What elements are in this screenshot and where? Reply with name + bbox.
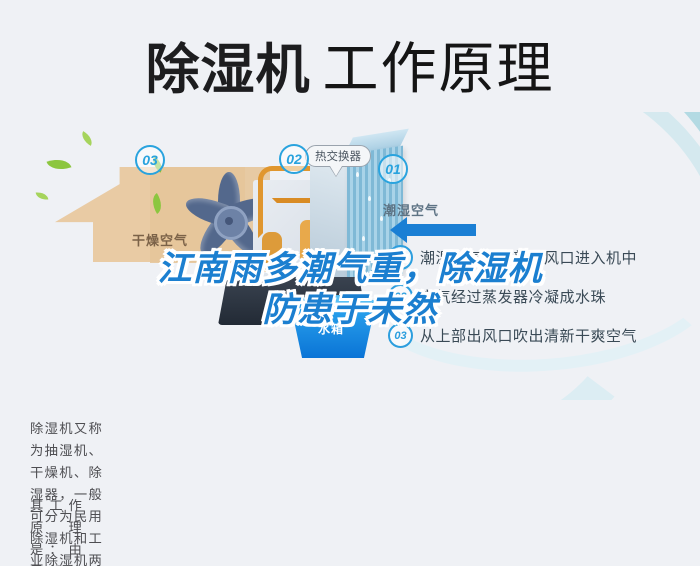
leaf-icon	[36, 191, 49, 200]
step-text: 空气经过蒸发器冷凝成水珠	[420, 286, 606, 307]
compressor-cylinder	[262, 232, 282, 272]
step-number: 01	[388, 245, 413, 270]
step-item: 01 潮湿空气从下部进风口进入机中	[388, 245, 688, 270]
body-copy: 除湿机又称为抽湿机、干燥机、除湿器，一般可分为民用除湿机和工业除湿机两大类，属于…	[30, 418, 678, 539]
step-item: 02 空气经过蒸发器冷凝成水珠	[388, 284, 688, 309]
badge-02: 02	[279, 144, 309, 174]
paragraph-1: 除湿机又称为抽湿机、干燥机、除湿器，一般可分为民用除湿机和工业除湿机两大类，属于…	[30, 418, 102, 480]
step-number: 03	[388, 323, 413, 348]
step-text: 从上部出风口吹出清新干爽空气	[420, 325, 637, 346]
badge-01: 01	[378, 154, 408, 184]
step-text: 潮湿空气从下部进风口进入机中	[420, 247, 637, 268]
page-title: 除湿机工作原理	[0, 24, 700, 105]
step-number: 02	[388, 284, 413, 309]
title-part-b: 工作原理	[323, 37, 555, 100]
water-tank-label: 水箱	[318, 320, 344, 337]
paragraph-2: 其工作原理是：由风机将潮湿空气抽入机内，通过热交换器，此时空气中的水分子冷凝成水…	[30, 495, 82, 539]
water-droplet	[362, 236, 365, 241]
water-droplet	[356, 172, 359, 177]
title-part-a: 除湿机	[146, 38, 311, 101]
heat-exchanger-callout: 热交换器	[305, 145, 371, 167]
leaf-icon	[47, 155, 72, 174]
leaf-icon	[79, 131, 96, 146]
step-list: 01 潮湿空气从下部进风口进入机中 02 空气经过蒸发器冷凝成水珠 03 从上部…	[388, 245, 688, 362]
humid-air-label: 潮湿空气	[383, 200, 439, 219]
fan-hub	[214, 206, 248, 240]
air-inlet-arrow	[406, 224, 476, 236]
badge-03: 03	[135, 145, 165, 175]
step-item: 03 从上部出风口吹出清新干爽空气	[388, 323, 688, 348]
water-droplet	[368, 196, 371, 201]
infographic-page: 除湿机工作原理 干燥空气	[0, 0, 700, 566]
